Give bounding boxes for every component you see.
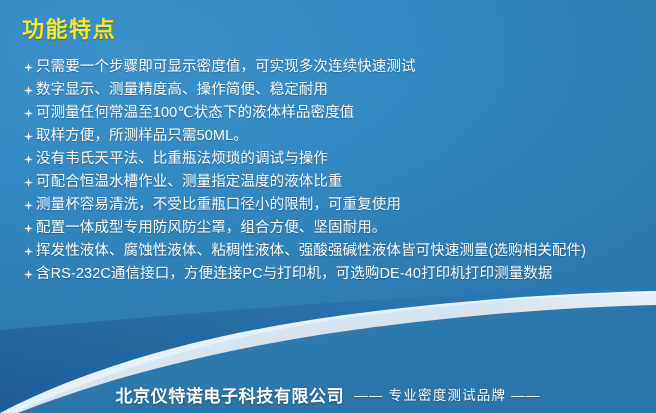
list-item: 含RS-232C通信接口，方便连接PC与打印机，可选购DE-40打印机打印测量数… bbox=[24, 263, 648, 286]
feature-text: 含RS-232C通信接口，方便连接PC与打印机，可选购DE-40打印机打印测量数… bbox=[36, 263, 552, 286]
diamond-bullet-icon bbox=[24, 56, 36, 79]
diamond-bullet-icon bbox=[24, 79, 36, 102]
list-item: 数字显示、测量精度高、操作简便、稳定耐用 bbox=[24, 79, 648, 102]
list-item: 可测量任何常温至100℃状态下的液体样品密度值 bbox=[24, 102, 648, 125]
diamond-bullet-icon bbox=[24, 148, 36, 171]
list-item: 没有韦氏天平法、比重瓶法烦琐的调试与操作 bbox=[24, 148, 648, 171]
feature-text: 可配合恒温水槽作业、测量指定温度的液体比重 bbox=[36, 171, 343, 194]
slide-canvas: 功能特点 只需要一个步骤即可显示密度值，可实现多次连续快速测试 数字显示、测量精… bbox=[0, 0, 656, 413]
diamond-bullet-icon bbox=[24, 102, 36, 125]
list-item: 测量杯容易清洗，不受比重瓶口径小的限制，可重复使用 bbox=[24, 194, 648, 217]
diamond-bullet-icon bbox=[24, 171, 36, 194]
diamond-bullet-icon bbox=[24, 217, 36, 240]
feature-text: 数字显示、测量精度高、操作简便、稳定耐用 bbox=[36, 79, 328, 102]
feature-text: 取样方便，所测样品只需50ML。 bbox=[36, 125, 248, 148]
page-title: 功能特点 bbox=[22, 12, 116, 44]
footer-tagline: —— 专业密度测试品牌 —— bbox=[354, 384, 540, 404]
diamond-bullet-icon bbox=[24, 240, 36, 263]
list-item: 取样方便，所测样品只需50ML。 bbox=[24, 125, 648, 148]
list-item: 可配合恒温水槽作业、测量指定温度的液体比重 bbox=[24, 171, 648, 194]
feature-text: 可测量任何常温至100℃状态下的液体样品密度值 bbox=[36, 102, 354, 125]
diamond-bullet-icon bbox=[24, 194, 36, 217]
list-item: 配置一体成型专用防风防尘罩，组合方便、坚固耐用。 bbox=[24, 217, 648, 240]
footer: 北京仪特诺电子科技有限公司 —— 专业密度测试品牌 —— bbox=[0, 379, 656, 409]
list-item: 只需要一个步骤即可显示密度值，可实现多次连续快速测试 bbox=[24, 56, 648, 79]
feature-text: 挥发性液体、腐蚀性液体、粘稠性液体、强酸强碱性液体皆可快速测量(选购相关配件) bbox=[36, 240, 586, 263]
footer-company-name: 北京仪特诺电子科技有限公司 bbox=[115, 382, 344, 407]
feature-text: 测量杯容易清洗，不受比重瓶口径小的限制，可重复使用 bbox=[36, 194, 401, 217]
list-item: 挥发性液体、腐蚀性液体、粘稠性液体、强酸强碱性液体皆可快速测量(选购相关配件) bbox=[24, 240, 648, 263]
feature-text: 配置一体成型专用防风防尘罩，组合方便、坚固耐用。 bbox=[36, 217, 386, 240]
diamond-bullet-icon bbox=[24, 263, 36, 286]
feature-text: 只需要一个步骤即可显示密度值，可实现多次连续快速测试 bbox=[36, 56, 416, 79]
feature-list: 只需要一个步骤即可显示密度值，可实现多次连续快速测试 数字显示、测量精度高、操作… bbox=[24, 56, 648, 286]
feature-text: 没有韦氏天平法、比重瓶法烦琐的调试与操作 bbox=[36, 148, 328, 171]
diamond-bullet-icon bbox=[24, 125, 36, 148]
